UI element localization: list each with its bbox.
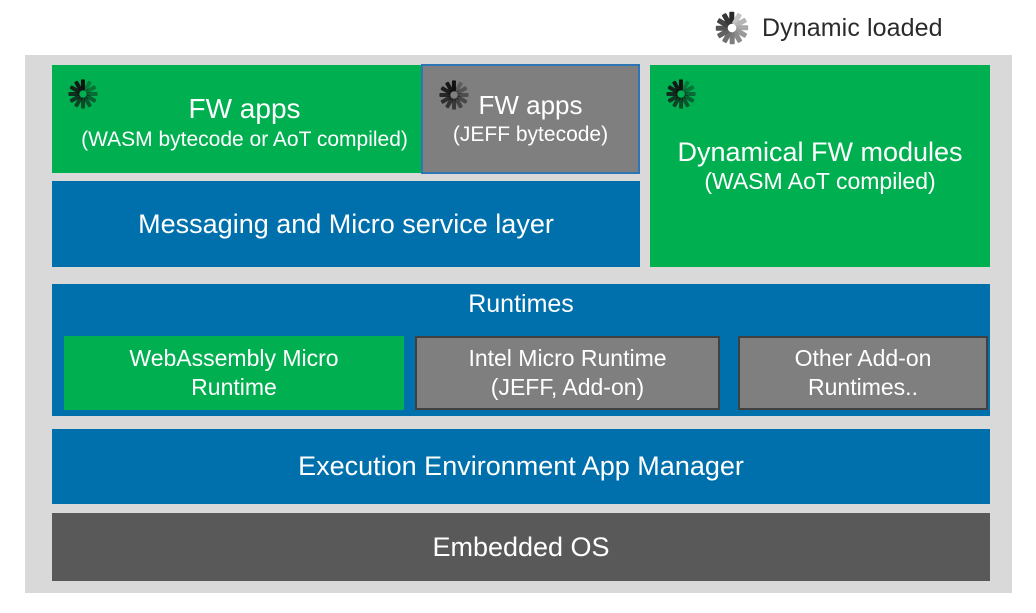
- dynamical-fw-modules-box[interactable]: Dynamical FW modules (WASM AoT compiled): [650, 65, 990, 267]
- messaging-layer-title: Messaging and Micro service layer: [138, 209, 554, 239]
- legend-label: Dynamic loaded: [762, 14, 943, 43]
- embedded-os-box[interactable]: Embedded OS: [52, 513, 990, 581]
- messaging-and-micro-service-layer-box[interactable]: Messaging and Micro service layer: [52, 181, 640, 267]
- runtime-item-intel-micro-runtime[interactable]: Intel Micro Runtime (JEFF, Add-on): [415, 336, 720, 410]
- runtime-item-other-add-on-runtimes[interactable]: Other Add-on Runtimes..: [738, 336, 988, 410]
- spinner-icon: [664, 77, 698, 111]
- architecture-diagram: FW apps (WASM bytecode or AoT compiled) …: [25, 55, 1012, 593]
- fw-apps-wasm-title: FW apps: [188, 93, 300, 124]
- fw-apps-jeff-subtitle: (JEFF bytecode): [453, 123, 608, 147]
- runtime-item-label: WebAssembly Micro Runtime: [129, 344, 338, 402]
- execution-environment-app-manager-box[interactable]: Execution Environment App Manager: [52, 429, 990, 504]
- spinner-icon: [66, 77, 100, 111]
- fw-apps-wasm-box[interactable]: FW apps (WASM bytecode or AoT compiled): [52, 65, 437, 173]
- dynamical-fw-modules-subtitle: (WASM AoT compiled): [704, 169, 935, 195]
- runtime-item-webassembly-micro-runtime[interactable]: WebAssembly Micro Runtime: [64, 336, 404, 410]
- runtime-item-label: Intel Micro Runtime (JEFF, Add-on): [468, 344, 666, 402]
- runtime-item-label: Other Add-on Runtimes..: [795, 344, 932, 402]
- embedded-os-title: Embedded OS: [432, 532, 609, 562]
- spinner-icon: [437, 78, 471, 112]
- fw-apps-jeff-box[interactable]: FW apps (JEFF bytecode): [421, 64, 640, 174]
- legend: Dynamic loaded: [712, 6, 1012, 50]
- runtimes-title: Runtimes: [52, 290, 990, 319]
- eeam-title: Execution Environment App Manager: [298, 451, 744, 481]
- fw-apps-jeff-title: FW apps: [478, 91, 582, 120]
- fw-apps-wasm-subtitle: (WASM bytecode or AoT compiled): [81, 128, 408, 152]
- runtimes-box[interactable]: Runtimes WebAssembly Micro Runtime Intel…: [52, 284, 990, 416]
- dynamical-fw-modules-title: Dynamical FW modules: [677, 137, 962, 167]
- spinner-icon: [712, 8, 752, 48]
